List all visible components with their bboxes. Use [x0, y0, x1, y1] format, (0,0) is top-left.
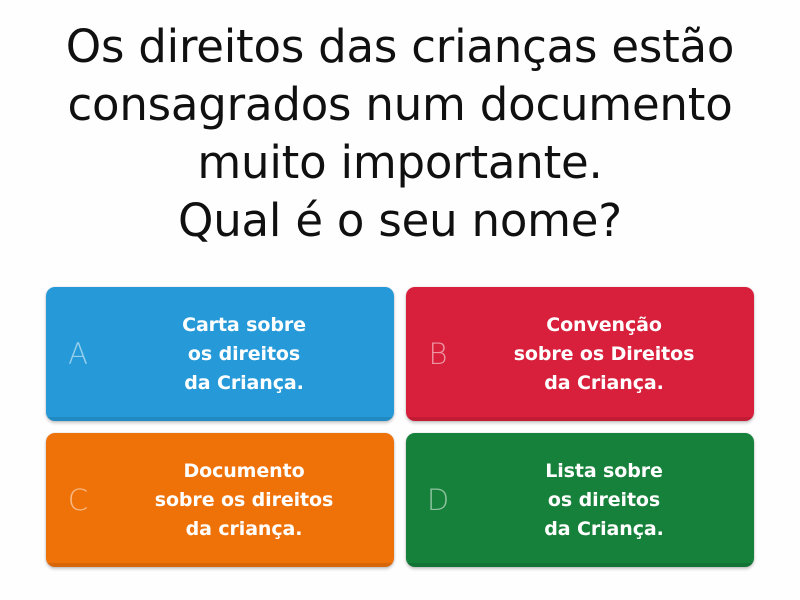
answer-letter-a: A — [46, 340, 110, 369]
answer-text-b: Convenção sobre os Direitos da Criança. — [470, 311, 754, 398]
answer-letter-b: B — [406, 340, 470, 369]
answer-text-a: Carta sobre os direitos da Criança. — [110, 311, 394, 398]
question-text: Os direitos das crianças estão consagrad… — [0, 18, 800, 250]
answer-option-a[interactable]: A Carta sobre os direitos da Criança. — [46, 287, 394, 421]
answer-option-c[interactable]: C Documento sobre os direitos da criança… — [46, 433, 394, 567]
quiz-screen: Os direitos das crianças estão consagrad… — [0, 0, 800, 600]
answer-letter-c: C — [46, 486, 110, 515]
question-area: Os direitos das crianças estão consagrad… — [0, 0, 800, 250]
answer-option-d[interactable]: D Lista sobre os direitos da Criança. — [406, 433, 754, 567]
answer-option-b[interactable]: B Convenção sobre os Direitos da Criança… — [406, 287, 754, 421]
answer-text-d: Lista sobre os direitos da Criança. — [470, 457, 754, 544]
answer-letter-d: D — [406, 486, 470, 515]
answer-options-grid: A Carta sobre os direitos da Criança. B … — [46, 287, 756, 567]
answer-text-c: Documento sobre os direitos da criança. — [110, 457, 394, 544]
